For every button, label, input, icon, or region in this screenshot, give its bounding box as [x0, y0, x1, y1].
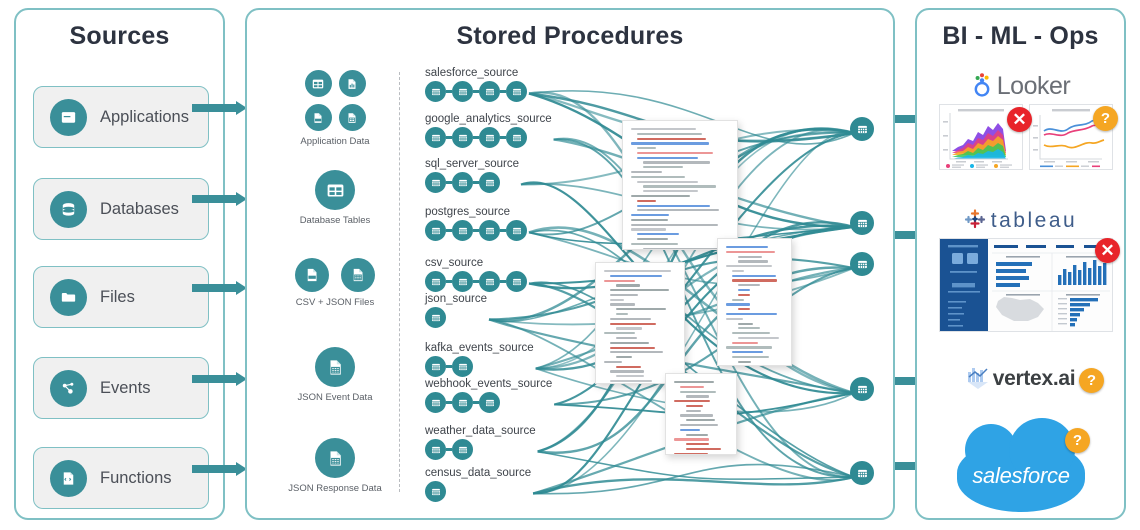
- table-node-icon[interactable]: [479, 220, 500, 241]
- table-node-icon[interactable]: [452, 356, 473, 377]
- table-node-icon[interactable]: [425, 481, 446, 502]
- salesforce-wordmark: salesforce: [972, 463, 1069, 489]
- file-table-icon: [315, 347, 355, 387]
- window-icon: [50, 99, 87, 136]
- output-table-node[interactable]: [850, 377, 874, 401]
- table-node-icon[interactable]: [506, 81, 527, 102]
- question-icon: ?: [1087, 372, 1096, 389]
- arrow-applications: [192, 101, 247, 115]
- tableau-logo: tableau: [917, 208, 1124, 235]
- lineage-row-json-source[interactable]: json_source: [425, 293, 487, 328]
- code-snippet-card[interactable]: [595, 262, 685, 384]
- lineage-row-label: kafka_events_source: [425, 342, 534, 354]
- source-card-files[interactable]: Files: [33, 266, 209, 328]
- table-node-icon[interactable]: [452, 81, 473, 102]
- table-node-icon[interactable]: [479, 392, 500, 413]
- file-chart-icon: [339, 70, 366, 97]
- source-label-functions: Functions: [100, 469, 172, 488]
- looker-wordmark: Looker: [997, 72, 1070, 100]
- output-table-node[interactable]: [850, 211, 874, 235]
- close-icon: ✕: [1100, 242, 1114, 259]
- source-card-databases[interactable]: Databases: [33, 178, 209, 240]
- lineage-row-label: postgres_source: [425, 206, 527, 218]
- document-code-icon: [50, 460, 87, 497]
- stored-procedures-title: Stored Procedures: [247, 22, 893, 51]
- looker-error-badge[interactable]: ✕: [1007, 107, 1032, 132]
- node-chain: [425, 307, 487, 328]
- node-chain: [425, 127, 552, 148]
- code-snippet-card[interactable]: [665, 373, 737, 455]
- node-chain: [425, 271, 527, 292]
- lineage-row-weather-data-source[interactable]: weather_data_source: [425, 425, 536, 460]
- question-icon: ?: [1073, 432, 1082, 449]
- salesforce-logo: salesforce: [957, 440, 1085, 512]
- file-table-icon: [339, 104, 366, 131]
- data-group-caption: Database Tables: [280, 215, 390, 227]
- source-label-applications: Applications: [100, 108, 189, 127]
- output-table-node[interactable]: [850, 117, 874, 141]
- table-node-icon[interactable]: [425, 81, 446, 102]
- data-group-csv-json-files: CSV + JSON Files: [280, 258, 390, 309]
- tableau-wordmark: tableau: [991, 209, 1077, 232]
- event-node-icon: [50, 370, 87, 407]
- table-node-icon[interactable]: [479, 172, 500, 193]
- source-label-files: Files: [100, 288, 135, 307]
- arrow-functions: [192, 462, 247, 476]
- looker-warning-badge[interactable]: ?: [1093, 106, 1118, 131]
- data-group-caption: Application Data: [280, 136, 390, 148]
- node-chain: [425, 356, 534, 377]
- database-icon: [50, 191, 87, 228]
- lineage-row-webhook-events-source[interactable]: webhook_events_source: [425, 378, 552, 413]
- lineage-row-label: sql_server_source: [425, 158, 519, 170]
- data-group-caption: JSON Event Data: [280, 392, 390, 404]
- table-node-icon[interactable]: [506, 271, 527, 292]
- table-node-icon[interactable]: [479, 81, 500, 102]
- table-node-icon[interactable]: [479, 127, 500, 148]
- source-label-events: Events: [100, 379, 150, 398]
- lineage-row-label: csv_source: [425, 257, 527, 269]
- source-card-functions[interactable]: Functions: [33, 447, 209, 509]
- source-label-databases: Databases: [100, 200, 179, 219]
- file-csv-icon: [305, 104, 332, 131]
- looker-logo: Looker: [917, 72, 1124, 103]
- node-chain: [425, 220, 527, 241]
- file-table-icon: [341, 258, 375, 292]
- table-node-icon[interactable]: [506, 220, 527, 241]
- lineage-row-census-data-source[interactable]: census_data_source: [425, 467, 531, 502]
- data-group-json-response-data: JSON Response Data: [280, 438, 390, 495]
- bi-ml-ops-title: BI - ML - Ops: [917, 22, 1124, 51]
- table-node-icon[interactable]: [425, 356, 446, 377]
- source-card-events[interactable]: Events: [33, 357, 209, 419]
- vertex-ai-warning-badge[interactable]: ?: [1079, 368, 1104, 393]
- data-group-application-data: Application Data: [280, 70, 390, 148]
- lineage-row-postgres-source[interactable]: postgres_source: [425, 206, 527, 241]
- table-icon: [305, 70, 332, 97]
- node-chain: [425, 172, 519, 193]
- table-node-icon[interactable]: [452, 271, 473, 292]
- arrow-files: [192, 281, 247, 295]
- bi-ml-ops-panel: BI - ML - Ops Looker: [915, 8, 1126, 520]
- lineage-row-sql-server-source[interactable]: sql_server_source: [425, 158, 519, 193]
- lineage-row-label: google_analytics_source: [425, 113, 552, 125]
- lineage-row-google-analytics-source[interactable]: google_analytics_source: [425, 113, 552, 148]
- table-node-icon[interactable]: [425, 392, 446, 413]
- tableau-error-badge[interactable]: ✕: [1095, 238, 1120, 263]
- vertex-ai-wordmark: vertex.ai: [993, 367, 1076, 390]
- arrow-events: [192, 372, 247, 386]
- table-node-icon[interactable]: [425, 172, 446, 193]
- table-node-icon[interactable]: [425, 307, 446, 328]
- data-group-caption: JSON Response Data: [280, 483, 390, 495]
- node-chain: [425, 392, 552, 413]
- diagram-canvas: Sources Applications Databases Files Eve…: [0, 0, 1140, 530]
- data-group-json-event-data: JSON Event Data: [280, 347, 390, 404]
- column-divider: [399, 72, 400, 492]
- table-node-icon[interactable]: [425, 439, 446, 460]
- data-group-caption: CSV + JSON Files: [280, 297, 390, 309]
- arrow-databases: [192, 192, 247, 206]
- output-table-node[interactable]: [850, 252, 874, 276]
- node-chain: [425, 481, 531, 502]
- code-snippet-card[interactable]: [717, 238, 792, 366]
- lineage-row-csv-source[interactable]: csv_source: [425, 257, 527, 292]
- file-table-icon: [315, 438, 355, 478]
- table-node-icon[interactable]: [452, 172, 473, 193]
- question-icon: ?: [1101, 110, 1110, 127]
- table-node-icon[interactable]: [425, 220, 446, 241]
- node-chain: [425, 439, 536, 460]
- folder-icon: [50, 279, 87, 316]
- file-csv-icon: [295, 258, 329, 292]
- tableau-dashboard-thumbnail[interactable]: [939, 238, 1113, 332]
- table-icon: [315, 170, 355, 210]
- data-group-database-tables: Database Tables: [280, 170, 390, 227]
- lineage-row-label: salesforce_source: [425, 67, 527, 79]
- close-icon: ✕: [1012, 111, 1026, 128]
- sources-panel: Sources Applications Databases Files Eve…: [14, 8, 225, 520]
- node-chain: [425, 81, 527, 102]
- table-node-icon[interactable]: [425, 127, 446, 148]
- table-node-icon[interactable]: [479, 271, 500, 292]
- stored-procedures-panel: Stored Procedures Application Data Datab…: [245, 8, 895, 520]
- lineage-row-label: json_source: [425, 293, 487, 305]
- lineage-row-label: census_data_source: [425, 467, 531, 479]
- sources-panel-title: Sources: [16, 22, 223, 51]
- output-table-node[interactable]: [850, 461, 874, 485]
- salesforce-warning-badge[interactable]: ?: [1065, 428, 1090, 453]
- table-node-icon[interactable]: [452, 439, 473, 460]
- code-snippet-card[interactable]: [622, 120, 738, 250]
- table-node-icon[interactable]: [506, 127, 527, 148]
- lineage-row-label: weather_data_source: [425, 425, 536, 437]
- table-node-icon[interactable]: [452, 220, 473, 241]
- lineage-row-label: webhook_events_source: [425, 378, 552, 390]
- table-node-icon[interactable]: [452, 127, 473, 148]
- lineage-row-kafka-events-source[interactable]: kafka_events_source: [425, 342, 534, 377]
- table-node-icon[interactable]: [452, 392, 473, 413]
- table-node-icon[interactable]: [425, 271, 446, 292]
- source-card-applications[interactable]: Applications: [33, 86, 209, 148]
- lineage-row-salesforce-source[interactable]: salesforce_source: [425, 67, 527, 102]
